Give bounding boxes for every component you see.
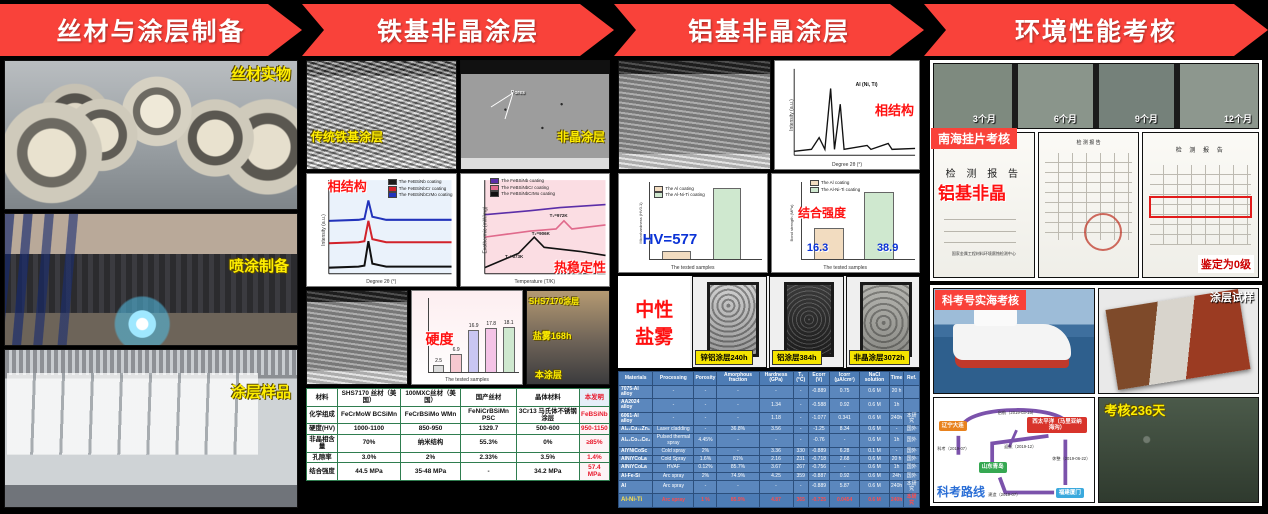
dt-r0-c3: -: [717, 385, 759, 399]
dt-r3-c10: 国外: [904, 426, 920, 434]
al-hardness-bar-1: [713, 188, 741, 260]
salt-spray-roller-photo: SHS7170涂层 盐雾168h 本涂层: [526, 290, 610, 385]
wire-spools-label: 丝材实物: [231, 67, 291, 82]
dt-r8-c4: 4.25: [759, 472, 793, 480]
dt-r3-c0: Al₈₅Cu₁₅Zn₅: [619, 426, 653, 434]
al-hardness-bars: [651, 184, 751, 260]
dt-r7-c10: 国外: [904, 464, 920, 472]
hardness-chart: Hardness (GPa) 1Cr18 steel The 3Cr13 coa…: [411, 290, 523, 385]
dt-r7-c4: 3.67: [759, 464, 793, 472]
dt-r9-c2: -: [694, 480, 717, 494]
exposure-duration-1: 6个月: [1054, 115, 1077, 124]
dt-r4-c1: Pulsed thermal spray: [653, 434, 694, 448]
xrd-chart: Intensity (a.u.) The FeBSiNb coating The…: [306, 173, 457, 287]
exposure-and-reports: 3个月 6个月 9个月 12个月 检 测 报 告 铝基非晶 国家金属工程材料环境…: [930, 60, 1262, 281]
al-coating-cross-section-sem: [618, 60, 771, 170]
cmp-r2-c3: 0%: [516, 434, 579, 452]
dt-h3: Amorphous fraction: [717, 372, 759, 386]
dt-r2-c10: 本研究: [904, 412, 920, 426]
banner-2-title: 铁基非晶涂层: [377, 12, 539, 48]
coating-comparison-table: 材料 SHS7170 丝材（美国） 100MXC丝材（美国） 国产丝材 晶体材料…: [306, 388, 610, 481]
cmp-r0-label: 化学组成: [307, 406, 338, 424]
report-p2-title: 检 测 报 告: [1143, 145, 1258, 154]
wire-spools-photo: 丝材实物: [4, 60, 298, 210]
xrd-label: 相结构: [328, 180, 367, 193]
dt-r5-c8: 0.1 M: [860, 447, 890, 455]
cmp-r4-c2: -: [461, 462, 517, 480]
spray-preparation-label: 喷涂制备: [229, 259, 289, 274]
hardness-xlabel: The tested samples: [412, 377, 522, 383]
cmp-r1-c3: 500-600: [516, 424, 579, 434]
dt-r1-c5: -: [793, 399, 808, 413]
column-al-based-amorphous-coating: 铝基非晶涂层 Intensity (a.u.) Al (Ni, Ti) 相结构 …: [614, 0, 924, 514]
al-xrd-xlabel: Degree 2θ (°): [775, 162, 919, 168]
table-row: Al-Ni-TiArc spray1 %85.9%4.87365-0.7250.…: [619, 494, 920, 508]
report-p1-title: 检 测 报 告: [1039, 139, 1139, 146]
dt-r1-c9: 1h: [889, 399, 904, 413]
dt-r10-c0: Al-Ni-Ti: [619, 494, 653, 508]
dt-r8-c6: -0.887: [808, 472, 829, 480]
cmp-h3: 国产丝材: [461, 389, 517, 407]
hardness-and-salt-row: Hardness (GPa) 1Cr18 steel The 3Cr13 coa…: [306, 290, 610, 385]
dt-r0-c7: 0.75: [829, 385, 859, 399]
dt-r6-c6: -0.718: [808, 456, 829, 464]
dt-h4: Hardness (GPa): [759, 372, 793, 386]
dt-r10-c5: 365: [793, 494, 808, 508]
coating-cross-section-photo: [306, 290, 408, 385]
dt-r9-c10: 本研究: [904, 480, 920, 494]
table-row: 7075-Al alloy------0.8890.750.6 M20 h: [619, 385, 920, 399]
banner-3-title: 铝基非晶涂层: [688, 12, 850, 48]
dt-r2-c1: -: [653, 412, 694, 426]
dt-r0-c8: 0.6 M: [860, 385, 890, 399]
dt-r10-c2: 1 %: [694, 494, 717, 508]
dt-h1: Processing: [653, 372, 694, 386]
hardness-value-0: 2.5: [435, 358, 442, 364]
dt-r5-c1: Cold spray: [653, 447, 694, 455]
zn-al-coupon-label: 锌铝涂层240h: [695, 350, 752, 365]
dt-r0-c0: 7075-Al alloy: [619, 385, 653, 399]
dt-r8-c0: Al-Fe-Si: [619, 472, 653, 480]
dt-r3-c3: 36.8%: [717, 426, 759, 434]
cmp-r0-c0: FeCrMoW BCSiMn: [338, 406, 401, 424]
dt-r7-c9: 1h: [889, 464, 904, 472]
dt-h8: NaCl solution: [860, 372, 890, 386]
al-xrd-legend: Al (Ni, Ti): [856, 83, 878, 88]
dt-r9-c5: -: [793, 480, 808, 494]
dt-r7-c8: 0.6 M: [860, 464, 890, 472]
cmp-r3-c4: 1.4%: [579, 452, 609, 462]
cmp-h2: 100MXC丝材（美国）: [400, 389, 460, 407]
dt-r2-c8: 0.6 M: [860, 412, 890, 426]
dt-r2-c4: 1.18: [759, 412, 793, 426]
dt-r10-c9: 240h: [889, 494, 904, 508]
dt-r3-c2: -: [694, 426, 717, 434]
cmp-r2-c0: 70%: [338, 434, 401, 452]
sea-trial-chip: 科考号实海考核: [935, 290, 1026, 310]
dt-r3-c7: 8.34: [829, 426, 859, 434]
cross-section-and-xrd: Intensity (a.u.) Al (Ni, Ti) 相结构 Degree …: [618, 60, 920, 170]
hardness-bar-1: 6.9: [450, 354, 462, 373]
xrd-legend-2: The FeBSiNbCrMo coating: [399, 193, 453, 198]
exposure-236-days-label: 考核236天: [1105, 404, 1166, 417]
table-row: AA2024 alloy---1.34--0.5880.920.6 M1h: [619, 399, 920, 413]
cmp-r4-c1: 35-48 MPa: [400, 462, 460, 480]
bond-value-0: 16.3: [807, 243, 828, 254]
cmp-r4-c3: 34.2 MPa: [516, 462, 579, 480]
dt-r5-c3: -: [717, 447, 759, 455]
dt-r8-c9: 24h: [889, 472, 904, 480]
zn-al-coating-coupon: 锌铝涂层240h: [692, 276, 767, 368]
dt-r6-c3: 81%: [717, 456, 759, 464]
coating-samples-label: 涂层样品: [231, 385, 291, 400]
sem-micrograph-pair: 传统铁基涂层 Pores 非晶涂层: [306, 60, 610, 170]
shs7170-coating-label: SHS7170涂层: [529, 298, 579, 306]
cmp-r3-c0: 3.0%: [338, 452, 401, 462]
hardness-value-1: 6.9: [453, 347, 460, 353]
dt-r1-c7: 0.92: [829, 399, 859, 413]
dt-r6-c9: 20 h: [889, 456, 904, 464]
dt-r7-c6: -0.756: [808, 464, 829, 472]
hardness-label: 硬度: [425, 332, 453, 346]
test-report-page-2: 检 测 报 告 鉴定为0级: [1142, 132, 1259, 278]
dt-r2-c9: 240h: [889, 412, 904, 426]
dsc-chart: Exothermic (mW/mg) The FeBSiNb coating T…: [460, 173, 611, 287]
dt-r10-c8: 0.6 M: [860, 494, 890, 508]
banner-1-title: 丝材与涂层制备: [56, 12, 245, 48]
cmp-r1-c0: 1000-1100: [338, 424, 401, 434]
al-amorphous-label: 铝基非晶: [938, 185, 1006, 202]
table-row: 6061-Al alloy---1.18--1.0770.3410.6 M240…: [619, 412, 920, 426]
cmp-r1-c2: 1329.7: [461, 424, 517, 434]
dsc-ylabel: Exothermic (mW/mg): [482, 207, 488, 254]
dt-r1-c3: -: [717, 399, 759, 413]
al-hardness-xlabel: The tested samples: [619, 265, 767, 271]
cmp-r3-c2: 2.33%: [461, 452, 517, 462]
table-row: 硬度(HV) 1000-1100 850-950 1329.7 500-600 …: [307, 424, 610, 434]
al-hardness-and-bond: Microhardness (HV0.1) The Al coating The…: [618, 173, 920, 273]
cmp-r2-c1: 纳米结构: [400, 434, 460, 452]
dt-h10: Ref.: [904, 372, 920, 386]
dt-r7-c0: AlNiYCoLa: [619, 464, 653, 472]
dt-r5-c10: 国外: [904, 447, 920, 455]
literature-comparison-table: Materials Processing Porosity Amorphous …: [618, 371, 920, 508]
xrd-legend-1: The FeBSiNbCr coating: [399, 186, 447, 191]
cmp-r3-c3: 3.5%: [516, 452, 579, 462]
dt-r10-c1: Arc spray: [653, 494, 694, 508]
amorphous-coating-sem: Pores 非晶涂层: [460, 60, 611, 170]
dt-r4-c7: -: [829, 434, 859, 448]
cmp-r2-c2: 55.3%: [461, 434, 517, 452]
banner-4-title: 环境性能考核: [1015, 12, 1177, 48]
dt-h2: Porosity: [694, 372, 717, 386]
bond-xlabel: The tested samples: [772, 265, 920, 271]
this-coating-label: 本涂层: [535, 371, 562, 380]
literature-table-body: 7075-Al alloy------0.8890.750.6 M20 hAA2…: [619, 385, 920, 507]
dt-r8-c3: 74.9%: [717, 472, 759, 480]
al-hardness-label: HV=577: [643, 232, 698, 247]
dt-r5-c7: 6.28: [829, 447, 859, 455]
route-edge-0: 启航（2019-03-15）: [998, 410, 1036, 416]
table-row: AlNiYCoLaCold Spray1.6%81%2.16231-0.7182…: [619, 456, 920, 464]
salt-spray-168h-label: 盐雾168h: [533, 332, 572, 341]
dt-r10-c4: 4.87: [759, 494, 793, 508]
dt-r6-c7: 2.68: [829, 456, 859, 464]
dt-r0-c1: -: [653, 385, 694, 399]
dt-r2-c2: -: [694, 412, 717, 426]
dt-r2-c7: 0.341: [829, 412, 859, 426]
cmp-r1-c1: 850-950: [400, 424, 460, 434]
dt-r9-c8: 0.6 M: [860, 480, 890, 494]
banner-4: 环境性能考核: [924, 0, 1268, 60]
cmp-h0: 材料: [307, 389, 338, 407]
al-xrd-ylabel: Intensity (a.u.): [789, 99, 795, 131]
dt-h6: Ecorr (V): [808, 372, 829, 386]
poster-root: 丝材与涂层制备 丝材实物 喷涂制备 涂层样品 铁基非晶涂层: [0, 0, 1268, 514]
xrd-dsc-pair: Intensity (a.u.) The FeBSiNb coating The…: [306, 173, 610, 287]
xrd-xlabel: Degree 2θ (°): [307, 279, 456, 285]
route-edge-3: 休整（2019-06-22）: [1052, 456, 1090, 462]
cmp-r3-c1: 2%: [400, 452, 460, 462]
dt-r2-c5: -: [793, 412, 808, 426]
al-coupon-label: 铝涂层384h: [772, 350, 822, 365]
dt-r3-c1: Laser cladding: [653, 426, 694, 434]
exposed-coating-plate-photo: 考核236天: [1098, 397, 1260, 503]
column-fe-based-amorphous-coating: 铁基非晶涂层 传统铁基涂层 Pores 非晶涂层: [302, 0, 614, 514]
dt-r4-c4: -: [759, 434, 793, 448]
table-row: 材料 SHS7170 丝材（美国） 100MXC丝材（美国） 国产丝材 晶体材料…: [307, 389, 610, 407]
dt-r7-c3: 85.7%: [717, 464, 759, 472]
dsc-legend-0: The FeBSiNb coating: [501, 178, 544, 183]
dt-r10-c7: 0.0454: [829, 494, 859, 508]
column-environmental-performance: 环境性能考核 3个月 6个月 9个月 12个月 检 测 报 告 铝基非晶: [924, 0, 1268, 514]
dt-h5: Tₓ (°C): [793, 372, 808, 386]
dt-r1-c0: AA2024 alloy: [619, 399, 653, 413]
cmp-r1-c4: 950-1150: [579, 424, 609, 434]
dt-r9-c1: Arc spray: [653, 480, 694, 494]
dt-r6-c1: Cold Spray: [653, 456, 694, 464]
dt-r4-c8: 0.6 M: [860, 434, 890, 448]
dt-r8-c1: Arc spray: [653, 472, 694, 480]
nanhai-exposure-chip: 南海挂片考核: [931, 128, 1017, 149]
report-cover-title: 检 测 报 告: [934, 165, 1034, 180]
dsc-annotation-0: T₁=972K: [550, 214, 568, 219]
test-report-cover: 检 测 报 告 铝基非晶 国家金属工程材料环境腐蚀检测中心: [933, 132, 1035, 278]
table-header-row: Materials Processing Porosity Amorphous …: [619, 372, 920, 386]
dt-r5-c4: 3.36: [759, 447, 793, 455]
hardness-value-2: 16.9: [469, 323, 479, 329]
exposure-duration-0: 3个月: [973, 115, 996, 124]
dt-r4-c6: -0.76: [808, 434, 829, 448]
hardness-bar-3: 17.8: [485, 328, 497, 373]
dt-r4-c5: -: [793, 434, 808, 448]
coating-specimen-photo: 涂层试样: [1098, 288, 1260, 394]
al-xrd-label: 相结构: [875, 104, 914, 117]
dt-r2-c0: 6061-Al alloy: [619, 412, 653, 426]
nanhai-exposure-panels: 3个月 6个月 9个月 12个月: [933, 63, 1259, 129]
ship-and-specimen: 科考号实海考核 涂层试样: [933, 288, 1259, 394]
dt-r8-c2: 2%: [694, 472, 717, 480]
dt-r5-c6: -0.889: [808, 447, 829, 455]
xrd-ylabel: Intensity (a.u.): [321, 214, 327, 246]
dt-r4-c10: 国外: [904, 434, 920, 448]
al-hardness-chart: Microhardness (HV0.1) The Al coating The…: [618, 173, 768, 273]
dt-r4-c0: Al₈₆Co₁₀Ce₄: [619, 434, 653, 448]
dsc-label: 热稳定性: [554, 261, 606, 274]
spray-preparation-photo: 喷涂制备: [4, 213, 298, 346]
dt-r1-c6: -0.588: [808, 399, 829, 413]
al-xrd-chart: Intensity (a.u.) Al (Ni, Ti) 相结构 Degree …: [774, 60, 920, 170]
grade-zero-label: 鉴定为0级: [1198, 255, 1254, 273]
expedition-route-diagram: 辽宁大连 山东青岛 西太平洋（马里亚纳海沟） 福建厦门 启航（2019-03-1…: [933, 397, 1095, 503]
dt-r10-c3: 85.9%: [717, 494, 759, 508]
report-photos: 检 测 报 告 铝基非晶 国家金属工程材料环境腐蚀检测中心 检 测 报 告 检 …: [933, 132, 1259, 278]
dt-r5-c9: -: [889, 447, 904, 455]
coating-samples-photo: 涂层样品: [4, 349, 298, 508]
dt-r9-c9: 240h: [889, 480, 904, 494]
cmp-r2-c4: ≥85%: [579, 434, 609, 452]
dt-r6-c5: 231: [793, 456, 808, 464]
dt-r10-c6: -0.725: [808, 494, 829, 508]
test-report-page-1: 检 测 报 告: [1038, 132, 1140, 278]
dt-r9-c4: -: [759, 480, 793, 494]
table-row: 非晶相含量 70% 纳米结构 55.3% 0% ≥85%: [307, 434, 610, 452]
dt-r2-c6: -1.077: [808, 412, 829, 426]
hardness-bar-2: 16.9: [468, 330, 480, 373]
exposure-duration-3: 12个月: [1224, 115, 1252, 124]
dsc-annotation-1: T₂=906K: [532, 232, 550, 237]
dt-r2-c3: -: [717, 412, 759, 426]
salt-spray-title: 中性 盐雾: [618, 276, 690, 368]
research-vessel-photo: 科考号实海考核: [933, 288, 1095, 394]
banner-1: 丝材与涂层制备: [0, 0, 302, 60]
dt-r5-c2: 2%: [694, 447, 717, 455]
dt-r5-c0: AlYNiCoSc: [619, 447, 653, 455]
dt-r0-c2: -: [694, 385, 717, 399]
dt-r0-c10: [904, 385, 920, 399]
dt-r6-c0: AlNiYCoLa: [619, 456, 653, 464]
route-edge-1: 返航（2019-12）: [1004, 444, 1036, 450]
xrd-legend: The FeBSiNb coating The FeBSiNbCr coatin…: [388, 179, 453, 199]
hardness-value-4: 18.1: [504, 320, 514, 326]
dt-r10-c10: 本研究: [904, 494, 920, 508]
cmp-r0-c1: FeCrBSiMo WMn: [400, 406, 460, 424]
dt-r3-c9: -: [889, 426, 904, 434]
table-row: Al-Fe-SiArc spray2%74.9%4.25359-0.8870.9…: [619, 472, 920, 480]
dt-r0-c6: -0.889: [808, 385, 829, 399]
bond-label: 结合强度: [798, 207, 846, 219]
table-row: Al₈₆Co₁₀Ce₄Pulsed thermal spray4.45%----…: [619, 434, 920, 448]
bond-ylabel: Bond strength (MPa): [788, 205, 793, 242]
dt-r4-c3: -: [717, 434, 759, 448]
banner-2: 铁基非晶涂层: [302, 0, 614, 60]
route-edge-4: 建造（2019-07）: [988, 492, 1020, 498]
hardness-value-3: 17.8: [486, 321, 496, 327]
bond-legend-0: The Al coating: [821, 180, 850, 185]
cmp-r4-label: 结合强度: [307, 462, 338, 480]
hardness-bar-4: 18.1: [503, 327, 515, 373]
dt-r1-c1: -: [653, 399, 694, 413]
dt-r6-c8: 0.6 M: [860, 456, 890, 464]
cmp-r4-c4: 57.4 MPa: [579, 462, 609, 480]
route-and-plate: 辽宁大连 山东青岛 西太平洋（马里亚纳海沟） 福建厦门 启航（2019-03-1…: [933, 397, 1259, 503]
table-row: 化学组成 FeCrMoW BCSiMn FeCrBSiMo WMn FeNiCr…: [307, 406, 610, 424]
cmp-r1-label: 硬度(HV): [307, 424, 338, 434]
table-row: AlArc spray-----0.8895.870.6 M240h本研究: [619, 480, 920, 494]
amorphous-coupon-label: 非晶涂层3072h: [849, 350, 910, 365]
cmp-r4-c0: 44.5 MPa: [338, 462, 401, 480]
dt-r8-c10: 国外: [904, 472, 920, 480]
node-dalian: 辽宁大连: [939, 421, 967, 431]
dt-h7: Icorr (μA/cm²): [829, 372, 859, 386]
dt-r1-c4: 1.34: [759, 399, 793, 413]
node-xiamen: 福建厦门: [1056, 488, 1084, 498]
dt-r8-c7: 0.92: [829, 472, 859, 480]
dsc-annotation-2: T₃=873K: [505, 255, 523, 260]
dt-h9: Time: [889, 372, 904, 386]
cmp-r3-label: 孔隙率: [307, 452, 338, 462]
dt-r3-c4: 3.56: [759, 426, 793, 434]
table-row: Al₈₅Cu₁₅Zn₅Laser cladding-36.8%3.56--1.2…: [619, 426, 920, 434]
dt-r9-c6: -0.889: [808, 480, 829, 494]
dt-r7-c1: HVAF: [653, 464, 694, 472]
cmp-r0-c2: FeNiCrBSiMn PSC: [461, 406, 517, 424]
bond-strength-chart: Bond strength (MPa) The Al coating The A…: [771, 173, 921, 273]
sea-trial-block: 科考号实海考核 涂层试样: [930, 285, 1262, 506]
specimen-label: 涂层试样: [1210, 293, 1254, 304]
dt-r0-c9: 20 h: [889, 385, 904, 399]
table-row: 结合强度 44.5 MPa 35-48 MPa - 34.2 MPa 57.4 …: [307, 462, 610, 480]
cmp-r0-c3: 3Cr13 马氏体不锈钢涂层: [516, 406, 579, 424]
dt-r1-c10: [904, 399, 920, 413]
salt-spray-title-line1: 中性: [635, 295, 673, 322]
dt-r7-c2: 0.12%: [694, 464, 717, 472]
conventional-fe-coating-label: 传统铁基涂层: [311, 131, 383, 143]
dt-r1-c8: 0.6 M: [860, 399, 890, 413]
dt-r8-c5: 359: [793, 472, 808, 480]
table-row: 孔隙率 3.0% 2% 2.33% 3.5% 1.4%: [307, 452, 610, 462]
dsc-legend-1: The FeBSiNbCr coating: [501, 185, 549, 190]
node-west-pacific: 西太平洋（马里亚纳海沟）: [1027, 417, 1087, 434]
dt-h0: Materials: [619, 372, 653, 386]
dt-r3-c6: -1.25: [808, 426, 829, 434]
route-title: 科考路线: [937, 486, 985, 498]
table-row: AlNiYCoLaHVAF0.12%85.7%3.67267-0.756-0.6…: [619, 464, 920, 472]
dt-r8-c8: 0.6 M: [860, 472, 890, 480]
dt-r9-c3: -: [717, 480, 759, 494]
table-row: AlYNiCoScCold spray2%-3.36330-0.8896.280…: [619, 447, 920, 455]
exposure-duration-2: 9个月: [1135, 115, 1158, 124]
dt-r5-c5: 330: [793, 447, 808, 455]
dt-r6-c10: 国外: [904, 456, 920, 464]
amorphous-coating-coupon: 非晶涂层3072h: [846, 276, 921, 368]
node-qingdao: 山东青岛: [979, 462, 1007, 472]
dsc-legend: The FeBSiNb coating The FeBSiNbCr coatin…: [490, 178, 555, 198]
dt-r1-c2: -: [694, 399, 717, 413]
salt-spray-title-line2: 盐雾: [635, 322, 673, 349]
bond-value-1: 38.9: [877, 243, 898, 254]
dt-r4-c9: 1h: [889, 434, 904, 448]
neutral-salt-spray-row: 中性 盐雾 锌铝涂层240h 铝涂层384h 非晶涂层3072h: [618, 276, 920, 368]
al-coating-coupon: 铝涂层384h: [769, 276, 844, 368]
banner-3: 铝基非晶涂层: [614, 0, 924, 60]
report-cover-footer: 国家金属工程材料环境腐蚀检测中心: [940, 251, 1028, 257]
cmp-r2-label: 非晶相含量: [307, 434, 338, 452]
dsc-legend-2: The FeBSiNbCrMo coating: [501, 192, 555, 197]
column-wire-and-coating-preparation: 丝材与涂层制备 丝材实物 喷涂制备 涂层样品: [0, 0, 302, 514]
dsc-xlabel: Temperature (T/K): [461, 279, 610, 285]
xrd-legend-0: The FeBSiNb coating: [399, 179, 442, 184]
